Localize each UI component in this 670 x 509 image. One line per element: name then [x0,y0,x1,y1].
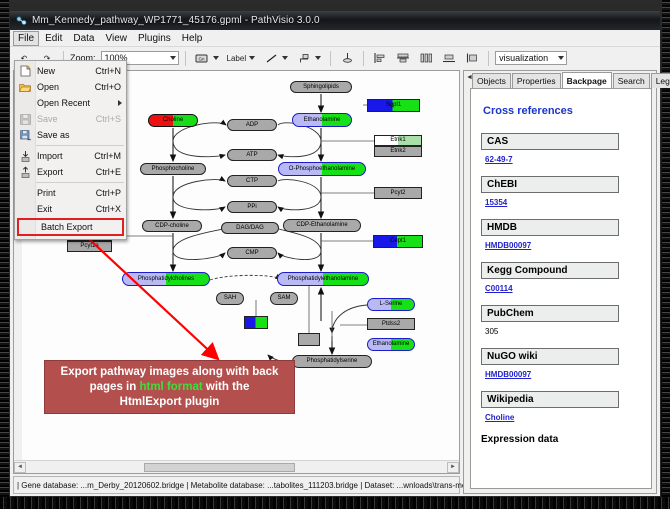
node-sam[interactable]: SAM [270,292,298,305]
label-tool-group[interactable]: Label [225,50,259,66]
distribute-icon[interactable] [416,50,436,66]
menu-item-import[interactable]: Import Ctrl+M [15,148,126,164]
menu-item-label: Batch Export [41,222,93,232]
xref-label-nugo: NuGO wiki [481,348,619,365]
node-cdp-choline[interactable]: CDP-choline [142,220,202,232]
xref-link-kegg[interactable]: C00114 [485,284,513,293]
xref-value-cas[interactable]: 62-49-7 [485,155,641,164]
xref-label-cas: CAS [481,133,619,150]
node-sphingolipids[interactable]: Sphingolipids [290,81,352,93]
gene-etnk1[interactable]: Etnk1 [374,135,422,146]
node-ctp[interactable]: CTP [227,175,277,187]
save-as-icon [18,129,32,142]
backpage-content: Cross references CAS 62-49-7 ChEBI 15354… [470,88,652,489]
menu-item-exit[interactable]: Exit Ctrl+X [15,201,126,217]
node-cmp[interactable]: CMP [227,247,277,259]
tab-search[interactable]: Search [613,73,650,88]
node-phosphatidylcholines[interactable]: Phosphatidylcholines [122,272,210,286]
gene-unnamed-1[interactable] [298,333,320,346]
title-bar: Mm_Kennedy_pathway_WP1771_45176.gpml - P… [10,11,660,30]
label-tool-icon[interactable]: Label [225,50,249,66]
status-bar: | Gene database: ...m_Derby_20120602.bri… [13,476,460,494]
receptor-tool-group[interactable] [294,50,324,66]
menu-item-label: Save as [37,130,70,140]
menu-item-print[interactable]: Print Ctrl+P [15,185,126,201]
screen: Mm_Kennedy_pathway_WP1771_45176.gpml - P… [0,0,670,509]
node-o-phosphoethanolamine[interactable]: O-Phosphoethanolamine [278,162,366,176]
chevron-right-icon [118,100,122,106]
chevron-down-icon[interactable] [282,56,288,60]
window-title: Mm_Kennedy_pathway_WP1771_45176.gpml - P… [32,15,320,26]
gene-ptdss2[interactable]: Ptdss2 [367,318,415,330]
align-center-vertical-icon[interactable] [393,50,413,66]
gene-pcyt2[interactable]: Pcyt2 [374,187,422,199]
anchor-tool-icon[interactable] [337,50,357,66]
xref-value-nugo[interactable]: HMDB00097 [485,370,641,379]
menu-edit[interactable]: Edit [40,31,67,46]
svg-text:Gn: Gn [199,56,206,61]
toolbar-separator [330,51,331,66]
canvas-horizontal-scrollbar[interactable]: ◄ ► [14,460,459,473]
gene-pemt[interactable] [244,316,268,329]
side-panel: ◄ Objects Properties Backpage Search Leg… [463,70,657,494]
node-ethanolamine-top[interactable]: Ethanolamine [292,113,352,127]
xref-link-hmdb[interactable]: HMDB00097 [485,241,531,250]
menu-separator [36,145,124,146]
menu-item-open[interactable]: Open Ctrl+O [15,79,126,95]
menu-item-batch-export[interactable]: Batch Export [17,218,124,236]
gene-etnk2[interactable]: Etnk2 [374,146,422,157]
panel-collapse-icon[interactable]: ◄ [466,74,473,81]
xref-label-chebi: ChEBI [481,176,619,193]
xref-link-cas[interactable]: 62-49-7 [485,155,513,164]
save-disk-icon [18,113,32,126]
chevron-down-icon[interactable] [213,56,219,60]
menu-item-accel: Ctrl+P [96,188,121,198]
pathvisio-window: Mm_Kennedy_pathway_WP1771_45176.gpml - P… [9,10,661,497]
chevron-down-icon [558,56,564,60]
pathvisio-icon [16,15,27,26]
annotation-line2-pre: pages in [90,381,140,393]
new-document-icon [18,65,32,78]
annotation-line1: Export pathway images along with back [61,366,279,378]
menu-item-new[interactable]: New Ctrl+N [15,63,126,79]
xref-value-kegg[interactable]: C00114 [485,284,641,293]
line-tool-group[interactable] [261,50,291,66]
bottom-edge-decoration [0,497,670,509]
file-menu-popup: New Ctrl+N Open Ctrl+O Open Recent Save [14,60,127,240]
xref-value-hmdb[interactable]: HMDB00097 [485,241,641,250]
receptor-tool-icon[interactable] [294,50,314,66]
menu-help[interactable]: Help [177,31,208,46]
gene-pcyt1a[interactable]: Pcyt1a [67,241,112,252]
menu-item-save: Save Ctrl+S [15,111,126,127]
node-atp[interactable]: ATP [227,149,277,161]
chevron-down-icon[interactable] [249,56,255,60]
node-choline-top[interactable]: Choline [148,114,198,127]
tab-objects[interactable]: Objects [472,73,511,88]
gene-sgpl1[interactable]: Sgpl1 [367,99,420,112]
node-sah[interactable]: SAH [216,292,244,305]
menu-item-accel: Ctrl+M [94,151,121,161]
scroll-right-icon[interactable]: ► [447,462,459,473]
menu-file[interactable]: File [13,31,39,46]
menu-item-open-recent[interactable]: Open Recent [15,95,126,111]
shape-tool-group[interactable]: Gn [192,50,222,66]
visualization-combo[interactable]: visualization [495,51,567,65]
same-width-icon[interactable] [462,50,482,66]
menu-item-label: Print [37,188,56,198]
xref-link-nugo[interactable]: HMDB00097 [485,370,531,379]
menu-item-accel: Ctrl+S [96,114,121,124]
annotation-highlight: html format [139,381,202,393]
node-adp[interactable]: ADP [227,119,277,131]
xref-value-chebi[interactable]: 15354 [485,198,641,207]
line-tool-icon[interactable] [261,50,281,66]
chevron-down-icon[interactable] [315,56,321,60]
node-phosphatidylethanolamine[interactable]: Phosphatidylethanolamine [277,272,369,286]
annotation-line2-post: with the [203,381,250,393]
status-text: | Gene database: ...m_Derby_20120602.bri… [17,481,493,490]
menu-plugins[interactable]: Plugins [133,31,176,46]
cross-references-heading: Cross references [483,105,641,117]
node-ethanolamine-low[interactable]: Ethanolamine [367,338,415,351]
left-edge-decoration [0,0,9,509]
side-panel-tabs: Objects Properties Backpage Search Legen… [464,71,656,88]
menu-item-accel: Ctrl+X [96,204,121,214]
xref-label-pubchem: PubChem [481,305,619,322]
menu-separator [36,182,124,183]
toolbar-separator [185,51,186,66]
menu-view[interactable]: View [100,31,132,46]
chevron-down-icon [170,56,176,60]
import-icon [18,150,32,163]
toolbar-separator [363,51,364,66]
node-dag[interactable]: DAG/DAG [221,222,279,234]
xref-label-hmdb: HMDB [481,219,619,236]
annotation-callout: Export pathway images along with back pa… [44,360,295,414]
menu-bar: File Edit Data View Plugins Help [10,30,660,47]
horizontal-scroll-thumb[interactable] [144,463,296,472]
menu-item-accel: Ctrl+E [96,167,121,177]
menu-item-accel: Ctrl+N [95,66,121,76]
node-phosphocholine[interactable]: Phosphocholine [140,163,206,175]
menu-item-save-as[interactable]: Save as [15,127,126,143]
open-folder-icon [18,81,32,94]
node-l-serine[interactable]: L-Serine [367,298,415,311]
align-bottom-icon[interactable] [439,50,459,66]
scroll-left-icon[interactable]: ◄ [14,462,26,473]
expression-data-heading: Expression data [481,434,641,445]
shape-tool-icon[interactable]: Gn [192,50,212,66]
xref-link-wikipedia[interactable]: Choline [485,413,514,422]
tab-properties[interactable]: Properties [512,73,561,88]
menu-data[interactable]: Data [68,31,99,46]
align-left-icon[interactable] [370,50,390,66]
xref-label-kegg: Kegg Compound [481,262,619,279]
horizontal-scroll-track[interactable] [26,462,447,473]
annotation-line3: HtmlExport plugin [120,396,220,408]
menu-item-accel: Ctrl+O [95,82,121,92]
export-icon [18,166,32,179]
menu-item-label: Open Recent [37,98,90,108]
xref-value-wikipedia[interactable]: Choline [485,413,641,422]
menu-item-label: Import [37,151,63,161]
tab-backpage[interactable]: Backpage [562,72,612,88]
xref-value-pubchem: 305 [485,327,641,336]
node-phosphatidylserine[interactable]: Phosphatidylserine [292,355,372,368]
node-ppi[interactable]: PPi [227,201,277,213]
menu-item-label: New [37,66,55,76]
toolbar-separator [488,51,489,66]
menu-item-label: Export [37,167,63,177]
menu-item-label: Save [37,114,58,124]
xref-label-wikipedia: Wikipedia [481,391,619,408]
menu-item-label: Open [37,82,59,92]
visualization-value: visualization [499,53,548,63]
tab-legend[interactable]: Legend [651,73,670,88]
menu-item-label: Exit [37,204,52,214]
menu-item-export[interactable]: Export Ctrl+E [15,164,126,180]
gene-cept1[interactable]: Cept1 [373,235,423,248]
node-cdp-ethanolamine[interactable]: CDP-Ethanolamine [283,219,361,232]
xref-link-chebi[interactable]: 15354 [485,198,507,207]
